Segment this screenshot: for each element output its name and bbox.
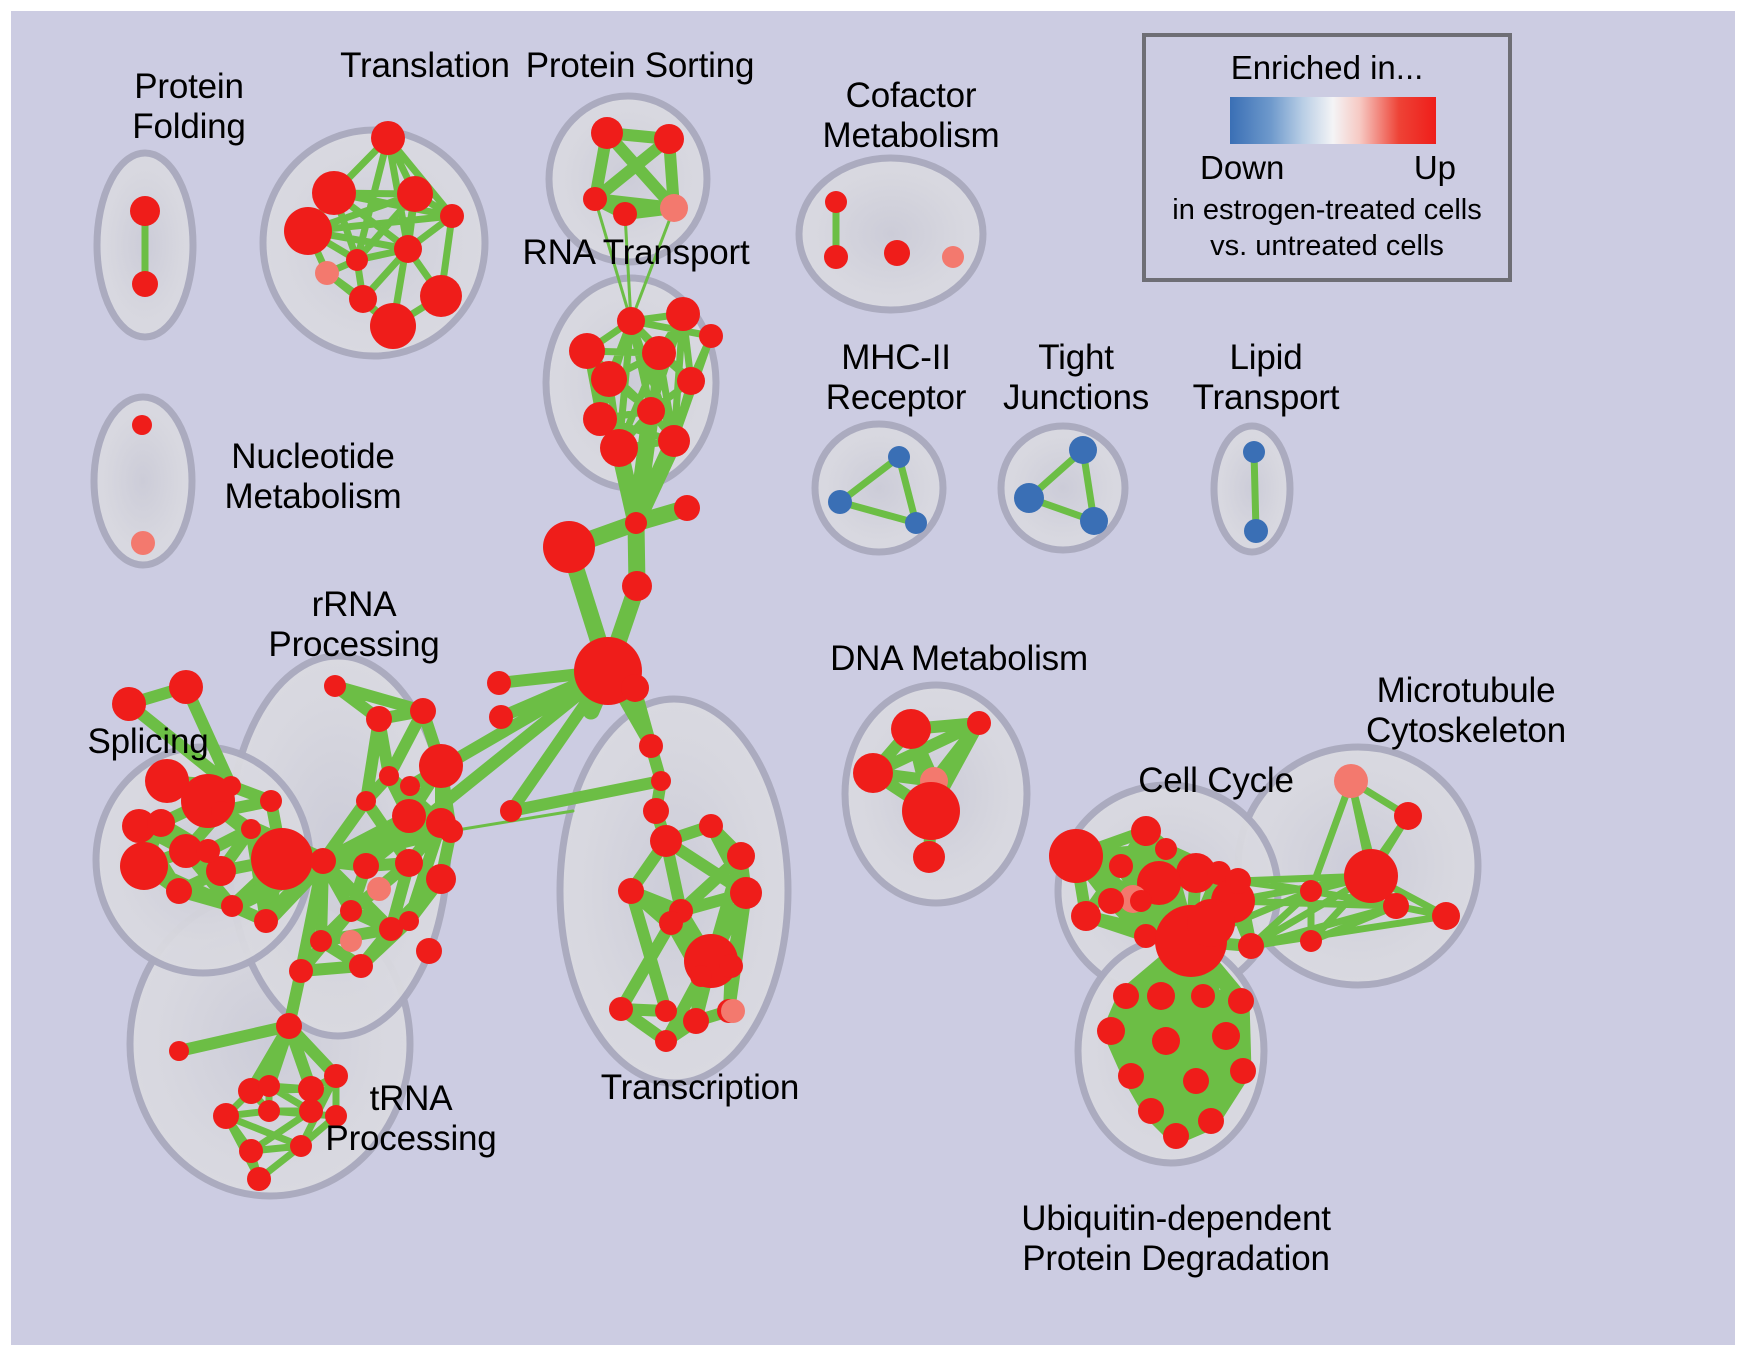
node-up[interactable]: [591, 361, 627, 397]
node-up[interactable]: [371, 121, 405, 155]
node-up[interactable]: [392, 799, 426, 833]
node-up[interactable]: [650, 825, 682, 857]
cluster-label-ubiquitin-protein-degradation: Ubiquitin-dependent Protein Degradation: [986, 1199, 1366, 1279]
node-up[interactable]: [913, 841, 945, 873]
node-up[interactable]: [349, 954, 373, 978]
cluster-label-cell-cycle: Cell Cycle: [1106, 761, 1326, 801]
node-up[interactable]: [312, 171, 356, 215]
node-up[interactable]: [659, 911, 683, 935]
node-up[interactable]: [439, 819, 463, 843]
node-up[interactable]: [395, 849, 423, 877]
node-up[interactable]: [420, 275, 462, 317]
node-up[interactable]: [891, 709, 931, 749]
node-up[interactable]: [884, 240, 910, 266]
node-up[interactable]: [967, 711, 991, 735]
node-up[interactable]: [658, 425, 690, 457]
node-up[interactable]: [643, 798, 669, 824]
node-up[interactable]: [637, 397, 665, 425]
node-down[interactable]: [1014, 483, 1044, 513]
node-up-weak[interactable]: [660, 194, 688, 222]
legend-title: Enriched in...: [1146, 49, 1508, 87]
legend-up-label: Up: [1414, 149, 1456, 187]
node-up[interactable]: [902, 782, 960, 840]
node-up[interactable]: [699, 814, 723, 838]
node-up[interactable]: [1183, 1068, 1209, 1094]
node-up[interactable]: [613, 202, 637, 226]
node-up[interactable]: [683, 1008, 709, 1034]
cluster-label-splicing: Splicing: [63, 722, 233, 762]
node-up[interactable]: [1191, 984, 1215, 1008]
node-up[interactable]: [1152, 1027, 1180, 1055]
node-down[interactable]: [1080, 507, 1108, 535]
node-up[interactable]: [353, 853, 379, 879]
node-up[interactable]: [258, 1100, 280, 1122]
node-up[interactable]: [825, 191, 847, 213]
node-up-weak[interactable]: [942, 246, 964, 268]
node-up[interactable]: [699, 324, 723, 348]
node-up[interactable]: [1230, 1058, 1256, 1084]
node-up[interactable]: [196, 839, 220, 863]
node-up[interactable]: [1097, 1017, 1125, 1045]
node-up-weak[interactable]: [340, 930, 362, 952]
node-up[interactable]: [719, 954, 743, 978]
node-up[interactable]: [169, 670, 203, 704]
node-up[interactable]: [370, 303, 416, 349]
node-up[interactable]: [487, 671, 511, 695]
node-up[interactable]: [730, 877, 762, 909]
node-down[interactable]: [905, 512, 927, 534]
node-up[interactable]: [324, 675, 346, 697]
node-up[interactable]: [247, 1167, 271, 1191]
node-up[interactable]: [147, 809, 175, 837]
node-up[interactable]: [166, 878, 192, 904]
cluster-label-lipid-transport: Lipid Transport: [1176, 338, 1356, 418]
node-up[interactable]: [655, 1000, 677, 1022]
node-up[interactable]: [690, 965, 712, 987]
cluster-label-microtubule-cytoskeleton: Microtubule Cytoskeleton: [1311, 671, 1621, 751]
node-up[interactable]: [181, 774, 235, 828]
cluster-label-cofactor-metabolism: Cofactor Metabolism: [801, 76, 1021, 156]
node-up[interactable]: [284, 207, 332, 255]
node-down[interactable]: [1243, 441, 1265, 463]
node-up[interactable]: [290, 1135, 312, 1157]
node-up[interactable]: [251, 828, 313, 890]
node-down[interactable]: [888, 446, 910, 468]
node-down[interactable]: [1244, 519, 1268, 543]
node-down[interactable]: [1069, 436, 1097, 464]
figure-canvas: .cl{fill:url(#cg);stroke:#aaaabe;stroke-…: [0, 0, 1750, 1360]
node-up[interactable]: [394, 235, 422, 263]
node-up[interactable]: [132, 415, 152, 435]
node-up[interactable]: [1163, 1123, 1189, 1149]
node-up[interactable]: [655, 1030, 677, 1052]
node-up[interactable]: [254, 909, 278, 933]
node-up[interactable]: [500, 800, 522, 822]
node-up[interactable]: [356, 791, 376, 811]
legend-subtitle: in estrogen-treated cells vs. untreated …: [1146, 192, 1508, 264]
node-up[interactable]: [1238, 933, 1264, 959]
cluster-label-nucleotide-metabolism: Nucleotide Metabolism: [203, 437, 423, 517]
node-up[interactable]: [651, 771, 671, 791]
cluster-label-rna-transport: RNA Transport: [511, 233, 761, 273]
node-up[interactable]: [400, 776, 420, 796]
node-up[interactable]: [622, 571, 652, 601]
node-up[interactable]: [591, 117, 623, 149]
node-up[interactable]: [440, 204, 464, 228]
legend-down-label: Down: [1200, 149, 1284, 187]
node-up[interactable]: [1138, 1098, 1164, 1124]
node-up[interactable]: [276, 1013, 302, 1039]
node-up[interactable]: [1187, 899, 1235, 947]
node-up[interactable]: [366, 706, 392, 732]
node-up[interactable]: [1228, 988, 1254, 1014]
node-up[interactable]: [260, 790, 282, 812]
node-up[interactable]: [426, 864, 456, 894]
node-up[interactable]: [241, 819, 261, 839]
node-up[interactable]: [1098, 888, 1124, 914]
legend-color-gradient-bar: [1230, 97, 1436, 144]
node-up[interactable]: [600, 429, 638, 467]
node-up[interactable]: [397, 176, 433, 212]
node-up[interactable]: [1198, 1108, 1224, 1134]
node-up[interactable]: [824, 245, 848, 269]
node-up-weak[interactable]: [721, 999, 745, 1023]
node-up[interactable]: [1113, 983, 1139, 1009]
node-up[interactable]: [310, 930, 332, 952]
cluster-ellipse-cofactor-metabolism[interactable]: [799, 158, 983, 310]
node-up[interactable]: [211, 801, 231, 821]
cluster-label-protein-folding: Protein Folding: [94, 67, 284, 147]
node-up[interactable]: [1131, 816, 1161, 846]
node-up[interactable]: [642, 336, 676, 370]
node-up[interactable]: [349, 285, 377, 313]
node-up[interactable]: [666, 297, 700, 331]
node-down[interactable]: [828, 490, 852, 514]
node-up[interactable]: [1383, 893, 1409, 919]
network-panel: .cl{fill:url(#cg);stroke:#aaaabe;stroke-…: [11, 11, 1735, 1345]
node-up[interactable]: [1147, 982, 1175, 1010]
node-up[interactable]: [489, 705, 513, 729]
node-up[interactable]: [289, 959, 313, 983]
node-up[interactable]: [543, 521, 595, 573]
node-up[interactable]: [379, 766, 399, 786]
cluster-label-tight-junctions: Tight Junctions: [986, 338, 1166, 418]
node-up[interactable]: [1394, 802, 1422, 830]
node-up-weak[interactable]: [1334, 764, 1368, 798]
node-up[interactable]: [340, 900, 362, 922]
legend-panel: Enriched in... Down Up in estrogen-treat…: [1142, 33, 1512, 282]
node-up[interactable]: [130, 196, 160, 226]
node-up[interactable]: [310, 848, 336, 874]
node-up[interactable]: [1155, 838, 1177, 860]
cluster-ellipse-mhc-ii-receptor[interactable]: [815, 424, 943, 552]
node-up[interactable]: [239, 1139, 263, 1163]
node-up[interactable]: [609, 997, 633, 1021]
node-up[interactable]: [677, 367, 705, 395]
cluster-label-dna-metabolism: DNA Metabolism: [819, 639, 1099, 679]
node-up[interactable]: [639, 734, 663, 758]
node-up[interactable]: [654, 124, 684, 154]
node-up[interactable]: [727, 842, 755, 870]
node-up[interactable]: [1071, 901, 1101, 931]
node-up[interactable]: [569, 333, 605, 369]
node-up[interactable]: [346, 249, 368, 271]
node-up[interactable]: [221, 895, 243, 917]
node-up[interactable]: [410, 698, 436, 724]
node-up-weak[interactable]: [131, 531, 155, 555]
node-up[interactable]: [1432, 902, 1460, 930]
node-up[interactable]: [853, 753, 893, 793]
cluster-label-trna-processing: tRNA Processing: [311, 1079, 511, 1159]
node-up[interactable]: [674, 495, 700, 521]
cluster-label-protein-sorting: Protein Sorting: [505, 46, 775, 86]
node-up[interactable]: [1049, 829, 1103, 883]
node-up[interactable]: [213, 1103, 239, 1129]
node-up[interactable]: [132, 271, 158, 297]
node-up[interactable]: [625, 512, 647, 534]
node-up[interactable]: [1109, 854, 1133, 878]
node-up[interactable]: [112, 687, 146, 721]
node-up[interactable]: [258, 1075, 280, 1097]
cluster-label-mhc-ii-receptor: MHC-II Receptor: [801, 338, 991, 418]
node-up[interactable]: [621, 674, 649, 702]
node-up[interactable]: [1225, 868, 1251, 894]
node-up[interactable]: [617, 307, 645, 335]
node-up[interactable]: [583, 187, 607, 211]
node-up-weak[interactable]: [315, 261, 339, 285]
node-up[interactable]: [1118, 1063, 1144, 1089]
node-up[interactable]: [1130, 890, 1152, 912]
node-up[interactable]: [399, 911, 419, 931]
node-up[interactable]: [169, 1041, 189, 1061]
node-up[interactable]: [618, 878, 644, 904]
node-up[interactable]: [1134, 924, 1158, 948]
node-up[interactable]: [1212, 1022, 1240, 1050]
node-up[interactable]: [416, 938, 442, 964]
node-up[interactable]: [120, 842, 168, 890]
node-up[interactable]: [1300, 880, 1322, 902]
node-up[interactable]: [419, 744, 463, 788]
cluster-label-transcription: Transcription: [575, 1068, 825, 1108]
node-up[interactable]: [1300, 930, 1322, 952]
cluster-label-rrna-processing: rRNA Processing: [254, 585, 454, 665]
node-up-weak[interactable]: [367, 877, 391, 901]
